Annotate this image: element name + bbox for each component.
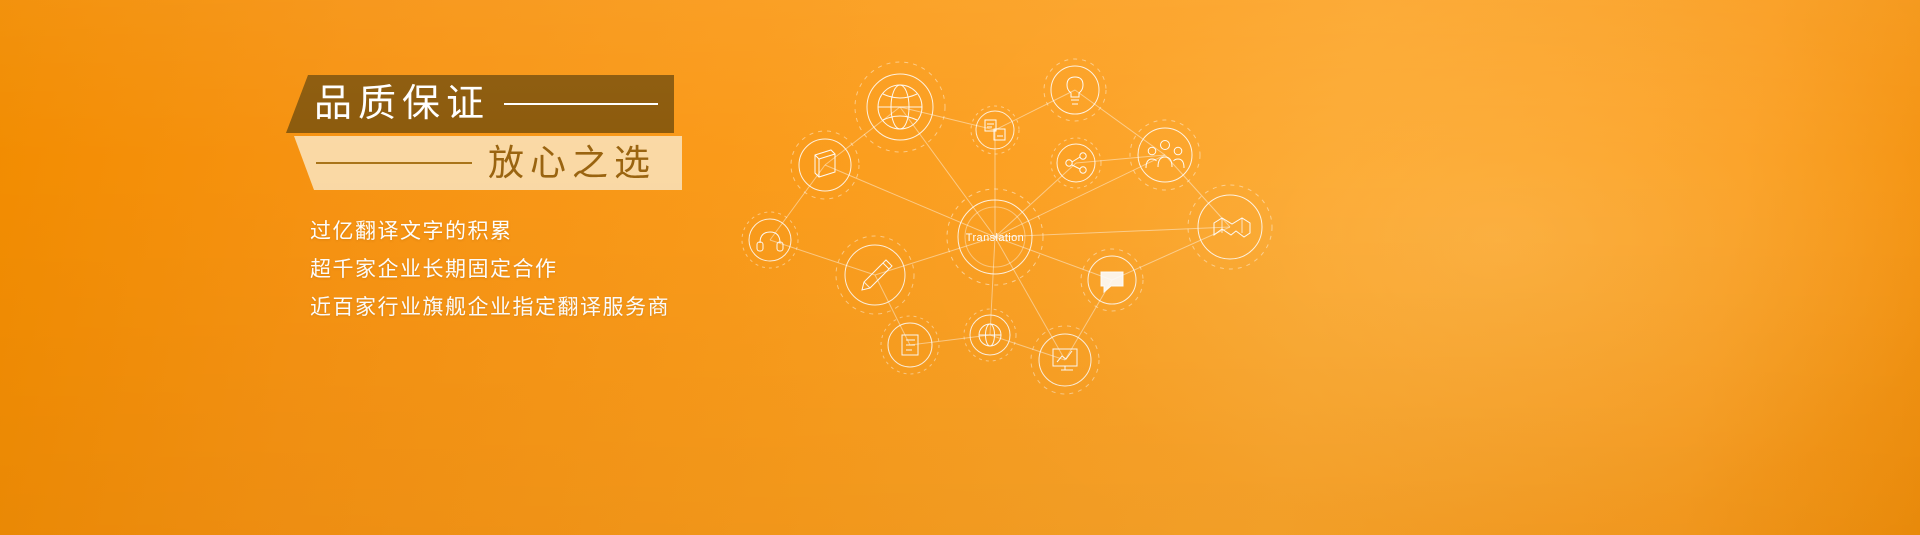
headline-primary-text: 品质保证 bbox=[314, 85, 490, 123]
translation-network-graphic: Translation bbox=[720, 25, 1320, 425]
document-icon bbox=[881, 316, 939, 374]
promo-banner: 品质保证 放心之选 过亿翻译文字的积累 超千家企业长期固定合作 近百家行业旗舰企… bbox=[0, 0, 1920, 535]
network-connectors bbox=[770, 90, 1230, 360]
feature-item-1: 过亿翻译文字的积累 bbox=[310, 212, 670, 250]
headline-secondary-text: 放心之选 bbox=[488, 145, 656, 181]
world-grid-icon bbox=[964, 309, 1016, 361]
headline-secondary-ribbon: 放心之选 bbox=[294, 136, 682, 190]
center-node-label: Translation bbox=[966, 232, 1024, 244]
globe-icon bbox=[855, 62, 945, 152]
headline-secondary-rule bbox=[316, 162, 472, 164]
headline-primary-rule bbox=[504, 103, 658, 105]
feature-item-2: 超千家企业长期固定合作 bbox=[310, 250, 670, 288]
feature-item-3: 近百家行业旗舰企业指定翻译服务商 bbox=[310, 288, 670, 326]
headline-primary-ribbon: 品质保证 bbox=[286, 75, 674, 133]
headline-block: 品质保证 放心之选 bbox=[286, 75, 686, 200]
feature-list: 过亿翻译文字的积累 超千家企业长期固定合作 近百家行业旗舰企业指定翻译服务商 bbox=[310, 212, 670, 326]
chat-bubble-icon bbox=[1081, 249, 1143, 311]
